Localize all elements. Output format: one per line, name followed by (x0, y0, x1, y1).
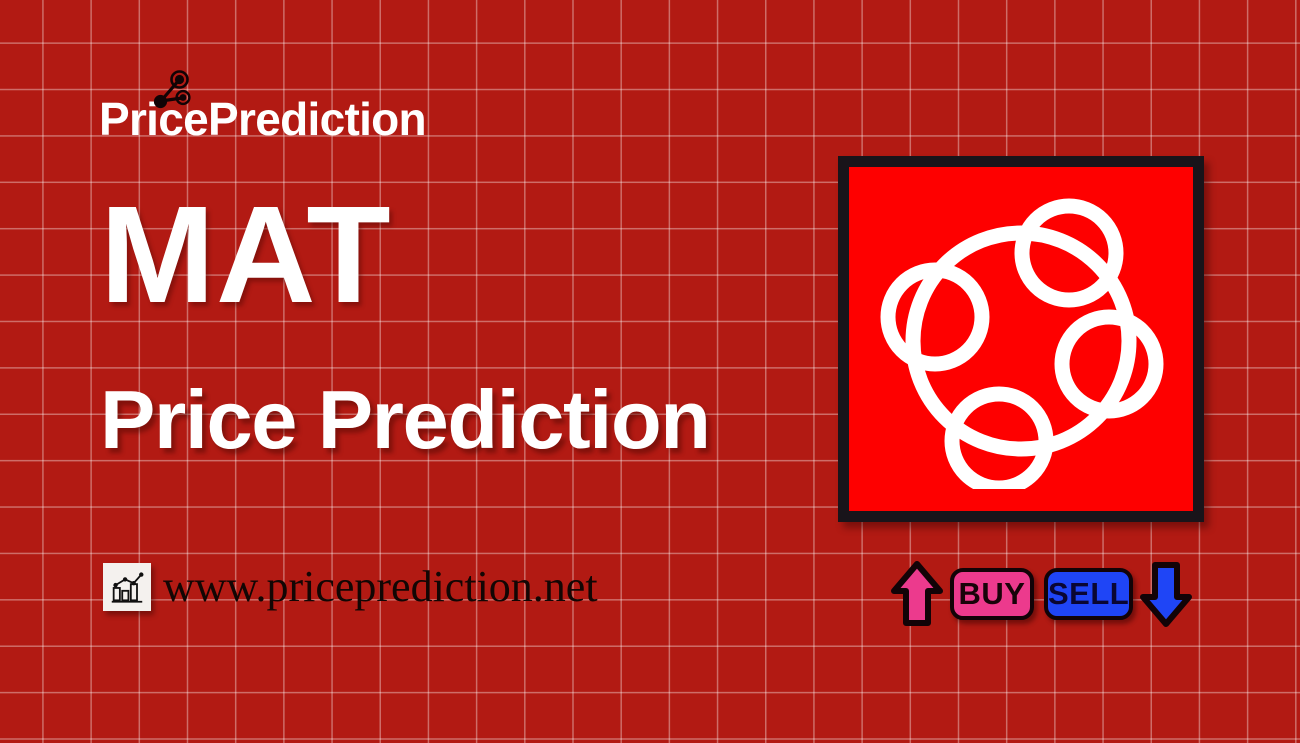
coin-ticker-title: MAT (100, 186, 392, 324)
price-prediction-banner: PricePrediction MAT Price Prediction www… (0, 0, 1300, 743)
mat-token-logo (838, 156, 1204, 522)
brand-lockup: PricePrediction (99, 96, 426, 142)
brand-name: PricePrediction (99, 96, 426, 142)
bar-chart-trend-icon (103, 563, 151, 611)
sell-button[interactable]: SELL (1044, 568, 1133, 620)
trade-controls: BUY SELL (890, 558, 1193, 630)
site-url-row: www.priceprediction.net (103, 563, 598, 611)
price-down-arrow[interactable] (1139, 560, 1193, 628)
site-url-text[interactable]: www.priceprediction.net (163, 565, 598, 609)
page-subtitle: Price Prediction (100, 378, 710, 461)
buy-button[interactable]: BUY (950, 568, 1034, 620)
price-up-arrow[interactable] (890, 560, 944, 628)
sell-button-label: SELL (1048, 576, 1129, 612)
buy-button-label: BUY (959, 576, 1026, 612)
